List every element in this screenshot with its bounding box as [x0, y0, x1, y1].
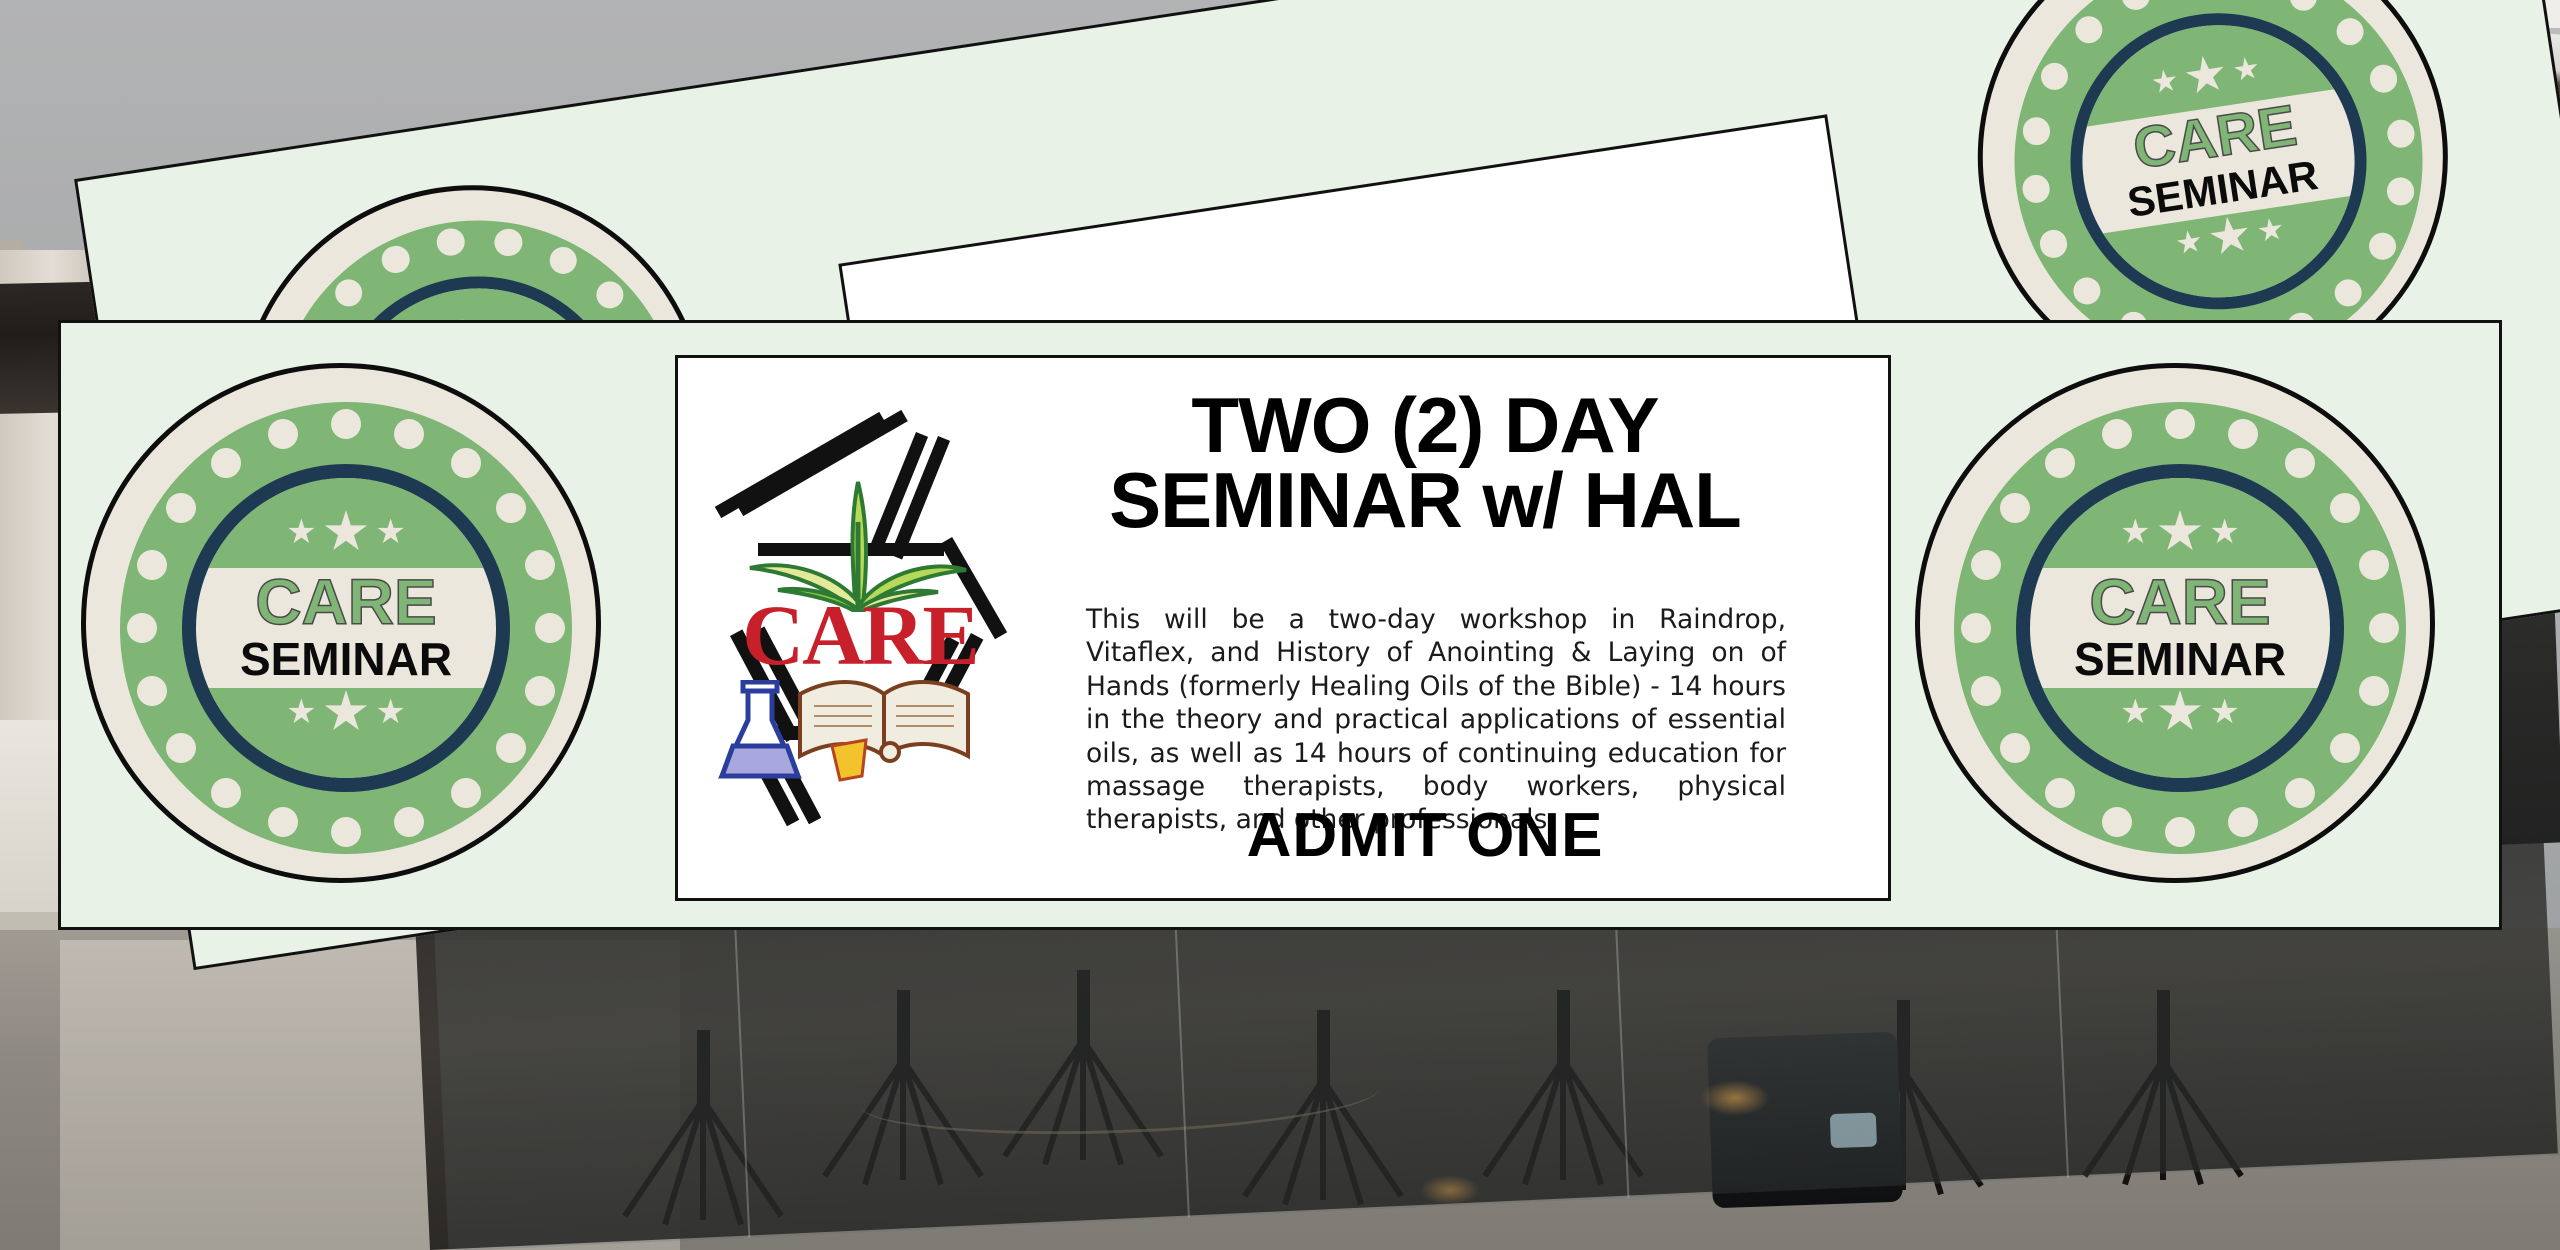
seal-subtitle: SEMINAR	[2030, 636, 2330, 682]
star-icon	[324, 510, 368, 554]
star-icon	[2158, 510, 2202, 554]
care-seminar-seal-left: CARESEMINAR	[81, 363, 601, 883]
open-book-icon	[792, 668, 977, 783]
seal-dot	[2359, 550, 2389, 580]
seal-dot	[2359, 676, 2389, 706]
seal-dot	[331, 409, 361, 439]
star-icon	[2183, 53, 2228, 98]
star-icon	[2232, 55, 2260, 83]
seal-dot	[211, 778, 241, 808]
star-icon	[2257, 216, 2285, 244]
admit-one-label: ADMIT ONE	[1030, 800, 1820, 871]
star-icon	[2175, 228, 2203, 256]
seal-dot	[2285, 778, 2315, 808]
seal-dot	[166, 733, 196, 763]
seal-dot	[2330, 493, 2360, 523]
seal-dot	[2165, 817, 2195, 847]
seal-dot	[2369, 613, 2399, 643]
seal-star-row	[2030, 690, 2330, 734]
seal-dot	[394, 419, 424, 449]
seal-dot	[2000, 733, 2030, 763]
seal-dot	[268, 419, 298, 449]
seal-dot	[451, 448, 481, 478]
star-icon	[377, 518, 404, 545]
star-icon	[324, 690, 368, 734]
seal-dot	[268, 807, 298, 837]
star-icon	[2211, 518, 2238, 545]
seal-dot	[496, 733, 526, 763]
star-icon	[2207, 214, 2252, 259]
seal-dot	[137, 676, 167, 706]
star-icon	[2122, 518, 2149, 545]
seal-subtitle: SEMINAR	[196, 636, 496, 682]
seal-dot	[211, 448, 241, 478]
seal-dot	[1971, 676, 2001, 706]
seal-dot	[2330, 733, 2360, 763]
seal-core: CARESEMINAR	[196, 478, 496, 778]
star-icon	[2151, 68, 2179, 96]
seal-dot	[2228, 807, 2258, 837]
headline-line-1: TWO (2) DAY	[1030, 388, 1820, 463]
seal-core: CARESEMINAR	[2064, 7, 2373, 316]
seal-dot	[2045, 778, 2075, 808]
screenshot-canvas: CARESEMINAR CARESEMINAR CARESEMINAR CARE…	[0, 0, 2560, 1250]
seal-dot	[127, 613, 157, 643]
seal-dot	[2102, 807, 2132, 837]
seal-dot	[394, 807, 424, 837]
seal-dot	[2165, 409, 2195, 439]
headline-line-2: SEMINAR w/ HAL	[1030, 463, 1820, 538]
seal-dot	[166, 493, 196, 523]
seal-core: CARESEMINAR	[2030, 478, 2330, 778]
star-icon	[377, 698, 404, 725]
care-seminar-seal-right: CARESEMINAR	[1915, 363, 2435, 883]
star-icon	[2122, 698, 2149, 725]
seal-title: CARE	[196, 570, 496, 634]
seal-dot	[535, 613, 565, 643]
seal-star-row	[196, 690, 496, 734]
ticket-headline: TWO (2) DAY SEMINAR w/ HAL	[1030, 388, 1820, 538]
star-icon	[2158, 690, 2202, 734]
seal-dot	[137, 550, 167, 580]
star-icon	[288, 518, 315, 545]
star-icon	[288, 698, 315, 725]
seal-dot	[451, 778, 481, 808]
seal-star-row	[2030, 510, 2330, 554]
seal-dot	[1971, 550, 2001, 580]
care-wordmark: CARE	[700, 592, 1020, 678]
seal-dot	[496, 493, 526, 523]
care-logo: CARE	[700, 440, 1020, 830]
seal-dot	[525, 550, 555, 580]
seal-dot	[525, 676, 555, 706]
star-icon	[2211, 698, 2238, 725]
seal-dot	[331, 817, 361, 847]
seal-dot	[2045, 448, 2075, 478]
seal-dot	[2285, 448, 2315, 478]
seal-dot	[1961, 613, 1991, 643]
seal-dot	[2000, 493, 2030, 523]
seal-star-row	[196, 510, 496, 554]
seal-title: CARE	[2030, 570, 2330, 634]
seal-dot	[2228, 419, 2258, 449]
seal-dot	[2102, 419, 2132, 449]
